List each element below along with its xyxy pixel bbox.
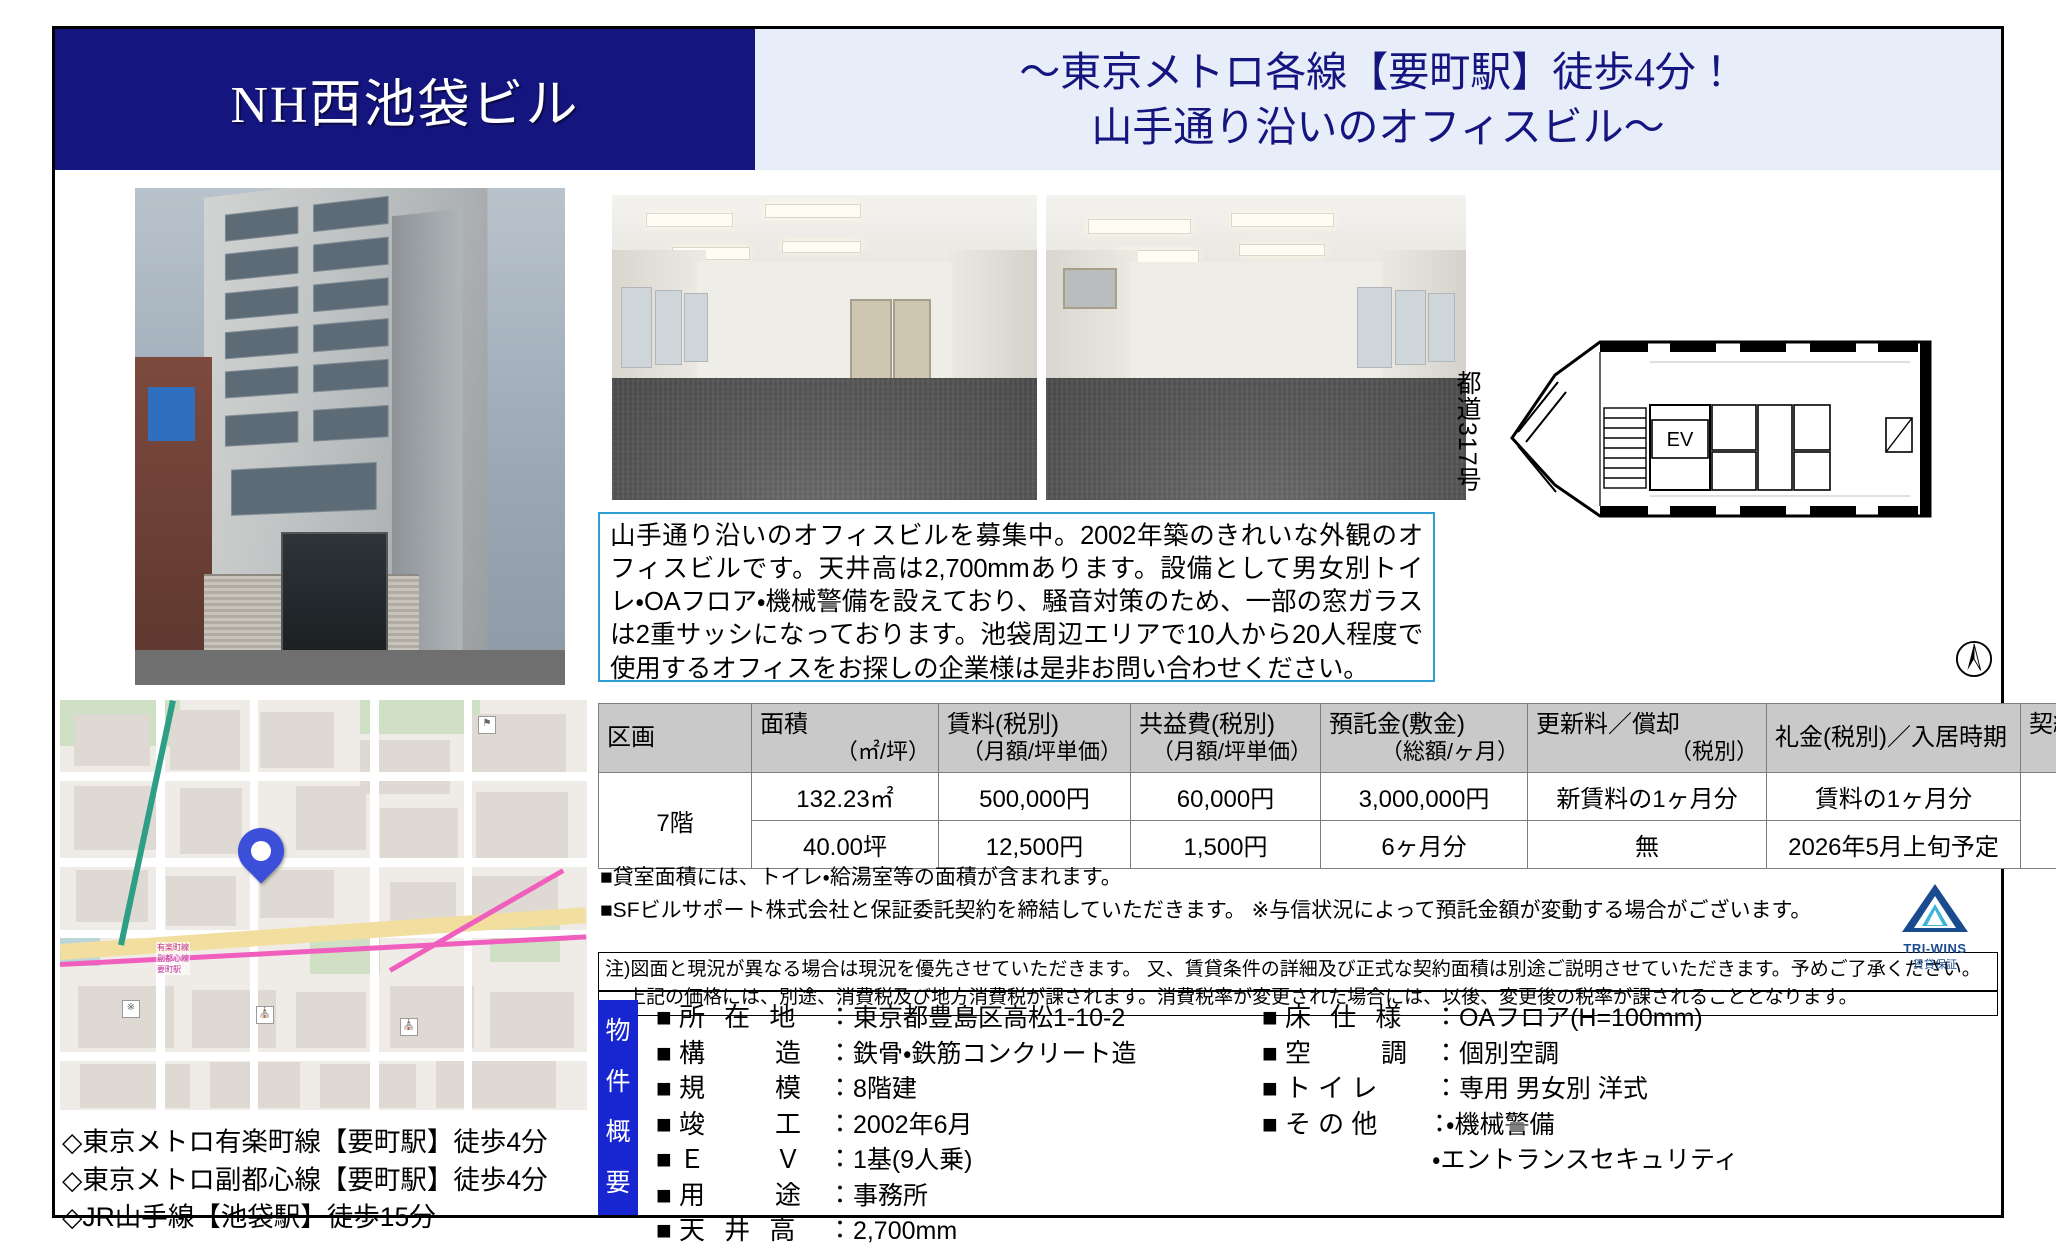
summary-row-shozaichi: ■ 所 在 地：東京都豊島区高松1-10-2 bbox=[656, 1000, 1236, 1036]
th-keiyaku-kikan: 契約期間 （年） bbox=[2021, 704, 2056, 773]
summary-row-sonota: ■ そ の 他：・機械警備 bbox=[1262, 1107, 1998, 1143]
value-sonota: ・機械警備 bbox=[1446, 1111, 1555, 1139]
cell-kukaku: 7階 bbox=[599, 773, 752, 869]
notes-list: ■貸室面積には、トイレ・給湯室等の面積が含まれます。 ■SFビルサポート株式会社… bbox=[600, 862, 2000, 927]
label-shunko: 竣 工 bbox=[679, 1107, 827, 1142]
label-kibo: 規 模 bbox=[679, 1071, 827, 1106]
access-item-3: ◇JR山手線【池袋駅】徒歩15分 bbox=[62, 1199, 602, 1237]
note-item-1: ■貸室面積には、トイレ・給湯室等の面積が含まれます。 bbox=[600, 862, 2000, 895]
th-reikin: 礼金(税別)／入居時期 bbox=[1767, 704, 2021, 773]
label-kucho: 空 調 bbox=[1285, 1036, 1433, 1071]
value-toilet: 専用 男女別 洋式 bbox=[1459, 1075, 1648, 1103]
compass-north-icon bbox=[1955, 640, 1993, 678]
building-name: NH西池袋ビル bbox=[230, 62, 579, 137]
property-flyer-page: NH西池袋ビル ～東京メトロ各線【要町駅】徒歩4分！ 山手通り沿いのオフィスビル… bbox=[0, 0, 2056, 1243]
value-yukashiyo: OAフロア(H=100mm) bbox=[1459, 1004, 1703, 1032]
floor-plan: EV bbox=[1500, 320, 1955, 550]
table-row: 7階 132.23㎡ 500,000円 60,000円 3,000,000円 新… bbox=[599, 773, 2056, 821]
label-toilet: ト イ レ bbox=[1285, 1071, 1433, 1106]
label-kouzou: 構 造 bbox=[679, 1036, 827, 1071]
table-header-row: 区画 面積 （㎡/坪） 賃料(税別) （月額/坪単価） 共益費(税別) （月額/… bbox=[599, 704, 2056, 773]
catchphrase-line-2: 山手通り沿いのオフィスビル～ bbox=[1091, 100, 1664, 155]
cell-keiyaku-kikan: 2年 bbox=[2021, 773, 2056, 869]
value-kibo: 8階建 bbox=[853, 1075, 917, 1103]
th-yotakukin: 預託金(敷金) （総額/ヶ月） bbox=[1321, 704, 1528, 773]
description-text: 山手通り沿いのオフィスビルを募集中。2002年築のきれいな外観のオフィスビルです… bbox=[610, 520, 1423, 686]
value-kucho: 個別空調 bbox=[1459, 1040, 1559, 1068]
access-list: ◇東京メトロ有楽町線【要町駅】徒歩4分 ◇東京メトロ副都心線【要町駅】徒歩4分 … bbox=[62, 1124, 602, 1237]
summary-row-kibo: ■ 規 模：8階建 bbox=[656, 1071, 1236, 1107]
interior-photo-2 bbox=[1046, 195, 1466, 500]
th-kukaku: 区画 bbox=[599, 704, 752, 773]
value-kouzou: 鉄骨・鉄筋コンクリート造 bbox=[853, 1040, 1137, 1068]
cell-chinryo-monthly: 500,000円 bbox=[939, 773, 1131, 821]
note-item-2: ■SFビルサポート株式会社と保証委託契約を締結していただきます。 ※与信状況によ… bbox=[600, 895, 2000, 928]
cell-koushinryo: 新賃料の1ヶ月分 bbox=[1528, 773, 1767, 821]
th-koushinryo: 更新料／償却 （税別） bbox=[1528, 704, 1767, 773]
header: NH西池袋ビル ～東京メトロ各線【要町駅】徒歩4分！ 山手通り沿いのオフィスビル… bbox=[55, 29, 2001, 170]
label-yukashiyo: 床 仕 様 bbox=[1285, 1000, 1433, 1035]
summary-row-yoto: ■ 用 途：事務所 bbox=[656, 1178, 1236, 1214]
value-ev: 1基(9人乗) bbox=[853, 1146, 972, 1174]
label-sonota: そ の 他 bbox=[1285, 1107, 1433, 1142]
summary-row-kucho: ■ 空 調：個別空調 bbox=[1262, 1036, 1998, 1072]
label-yoto: 用 途 bbox=[679, 1178, 827, 1213]
th-chinryo: 賃料(税別) （月額/坪単価） bbox=[939, 704, 1131, 773]
summary-row-tenjodaka: ■ 天 井 高：2,700mm bbox=[656, 1213, 1236, 1243]
label-shozaichi: 所 在 地 bbox=[679, 1000, 827, 1035]
summary-tab-char-1: 物 bbox=[605, 1019, 630, 1044]
value-sonota-extra: ・エントランスセキュリティ bbox=[1432, 1146, 1739, 1174]
summary-tab: 物 件 概 要 bbox=[598, 1000, 638, 1215]
location-map[interactable]: ⚑ ※ ⛪ ⛪ 有楽町線副都心線要町駅 bbox=[60, 700, 587, 1110]
summary-divider bbox=[598, 990, 1998, 992]
th-menseki: 面積 （㎡/坪） bbox=[752, 704, 939, 773]
catchphrase-line-1: ～東京メトロ各線【要町駅】徒歩4分！ bbox=[1019, 45, 1737, 100]
summary-row-ev: ■ Ｅ Ｖ：1基(9人乗) bbox=[656, 1142, 1236, 1178]
rent-conditions-table: 区画 面積 （㎡/坪） 賃料(税別) （月額/坪単価） 共益費(税別) （月額/… bbox=[598, 703, 2056, 869]
access-item-2: ◇東京メトロ副都心線【要町駅】徒歩4分 bbox=[62, 1162, 602, 1200]
cell-reikin: 賃料の1ヶ月分 bbox=[1767, 773, 2021, 821]
interior-photo-1 bbox=[612, 195, 1037, 500]
summary-left-column: ■ 所 在 地：東京都豊島区高松1-10-2 ■ 構 造：鉄骨・鉄筋コンクリート… bbox=[656, 1000, 1236, 1215]
svg-text:EV: EV bbox=[1667, 429, 1694, 451]
th-kyoekihi: 共益費(税別) （月額/坪単価） bbox=[1131, 704, 1321, 773]
summary-row-yukashiyo: ■ 床 仕 様：OAフロア(H=100mm) bbox=[1262, 1000, 1998, 1036]
disclaimer-line-1: 注)図面と現況が異なる場合は現況を優先させていただきます。 又、賃貸条件の詳細及… bbox=[605, 956, 1991, 984]
road-name-label: 都道317号 bbox=[1448, 370, 1480, 493]
logo-subtitle: 賃貸保証 bbox=[1880, 956, 1990, 972]
exterior-photo bbox=[135, 188, 565, 685]
catchphrase-box: ～東京メトロ各線【要町駅】徒歩4分！ 山手通り沿いのオフィスビル～ bbox=[755, 29, 2001, 170]
value-shozaichi: 東京都豊島区高松1-10-2 bbox=[853, 1004, 1125, 1032]
tri-wins-logo: TRI-WINS 賃貸保証 bbox=[1880, 880, 1990, 962]
label-ev: Ｅ Ｖ bbox=[679, 1142, 827, 1177]
summary-tab-char-3: 概 bbox=[605, 1120, 630, 1145]
tri-wins-mark-icon bbox=[1898, 880, 1972, 936]
cell-kyoekihi-monthly: 60,000円 bbox=[1131, 773, 1321, 821]
property-summary: 物 件 概 要 ■ 所 在 地：東京都豊島区高松1-10-2 ■ 構 造：鉄骨・… bbox=[598, 1000, 1998, 1215]
rent-conditions-table-wrap: 区画 面積 （㎡/坪） 賃料(税別) （月額/坪単価） 共益費(税別) （月額/… bbox=[598, 703, 1998, 869]
logo-name: TRI-WINS bbox=[1880, 941, 1990, 956]
summary-tab-char-4: 要 bbox=[605, 1171, 630, 1196]
summary-right-column: ■ 床 仕 様：OAフロア(H=100mm) ■ 空 調：個別空調 ■ ト イ … bbox=[1236, 1000, 1998, 1215]
description-box: 山手通り沿いのオフィスビルを募集中。2002年築のきれいな外観のオフィスビルです… bbox=[598, 512, 1435, 682]
cell-menseki-sqm: 132.23㎡ bbox=[752, 773, 939, 821]
summary-row-kouzou: ■ 構 造：鉄骨・鉄筋コンクリート造 bbox=[656, 1036, 1236, 1072]
summary-tab-char-2: 件 bbox=[605, 1070, 630, 1095]
building-name-box: NH西池袋ビル bbox=[55, 29, 755, 170]
access-item-1: ◇東京メトロ有楽町線【要町駅】徒歩4分 bbox=[62, 1124, 602, 1162]
summary-row-sonota-extra: ・エントランスセキュリティ bbox=[1262, 1142, 1998, 1178]
summary-row-toilet: ■ ト イ レ：専用 男女別 洋式 bbox=[1262, 1071, 1998, 1107]
cell-yotakukin-total: 3,000,000円 bbox=[1321, 773, 1528, 821]
label-tenjodaka: 天 井 高 bbox=[679, 1213, 827, 1243]
summary-row-shunko: ■ 竣 工：2002年6月 bbox=[656, 1107, 1236, 1143]
value-shunko: 2002年6月 bbox=[853, 1111, 973, 1139]
value-yoto: 事務所 bbox=[853, 1182, 928, 1210]
value-tenjodaka: 2,700mm bbox=[853, 1217, 957, 1243]
